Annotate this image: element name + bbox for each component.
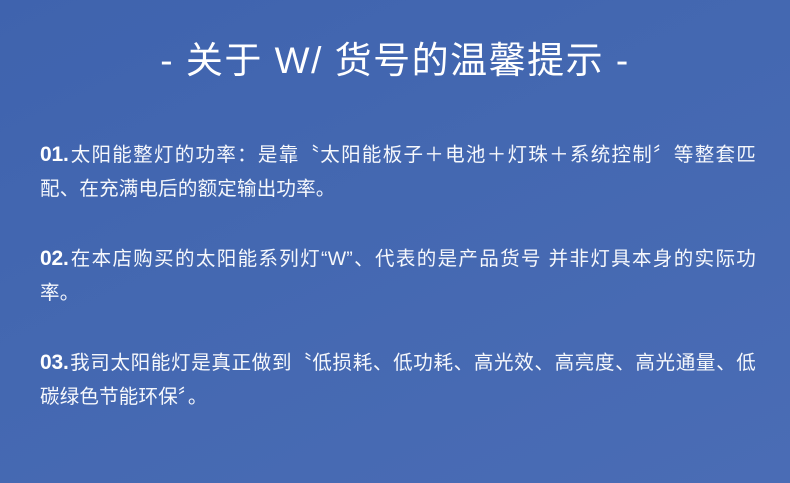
notice-list: 01.太阳能整灯的功率：是靠〝太阳能板子＋电池＋灯珠＋系统控制〞等整套匹配、在充… xyxy=(40,118,756,433)
notice-item-text: 在本店购买的太阳能系列灯“W”、代表的是产品货号 并非灯具本身的实际功率。 xyxy=(40,248,756,304)
page-title-text: - 关于 W/ 货号的温馨提示 - xyxy=(160,34,629,88)
page-title: - 关于 W/ 货号的温馨提示 - xyxy=(0,34,790,88)
promo-notice-poster: - 关于 W/ 货号的温馨提示 - 01.太阳能整灯的功率：是靠〝太阳能板子＋电… xyxy=(0,0,790,483)
notice-item-text: 我司太阳能灯是真正做到〝低损耗、低功耗、高光效、高亮度、高光通量、低碳绿色节能环… xyxy=(40,352,756,408)
notice-item-index: 01. xyxy=(40,143,69,166)
notice-item: 03.我司太阳能灯是真正做到〝低损耗、低功耗、高光效、高亮度、高光通量、低碳绿色… xyxy=(40,346,756,414)
notice-item: 01.太阳能整灯的功率：是靠〝太阳能板子＋电池＋灯珠＋系统控制〞等整套匹配、在充… xyxy=(40,138,756,206)
notice-item-index: 03. xyxy=(40,351,69,374)
notice-item-text: 太阳能整灯的功率：是靠〝太阳能板子＋电池＋灯珠＋系统控制〞等整套匹配、在充满电后… xyxy=(40,144,756,200)
notice-item: 02.在本店购买的太阳能系列灯“W”、代表的是产品货号 并非灯具本身的实际功率。 xyxy=(40,242,756,310)
notice-item-index: 02. xyxy=(40,247,69,270)
